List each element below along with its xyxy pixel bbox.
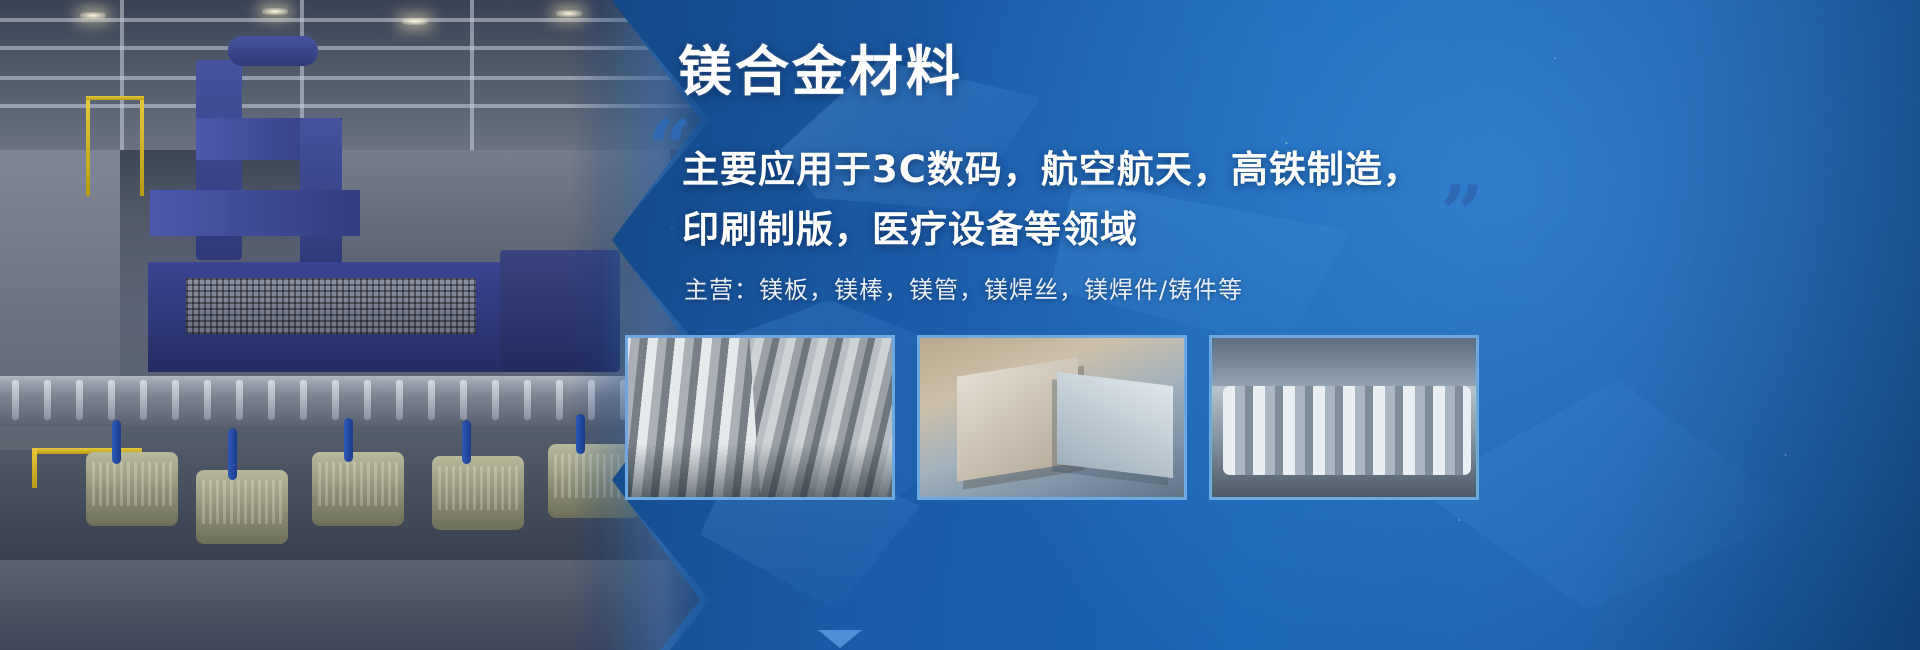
product-banner: 镁合金材料 “ ” 主要应用于3C数码，航空航天，高铁制造， 印刷制版，医疗设备…: [0, 0, 1920, 650]
product-thumbnail-rods[interactable]: [625, 335, 895, 500]
products-line: 主营：镁板，镁棒，镁管，镁焊丝，镁焊件/铸件等: [684, 275, 1243, 306]
factory-photo: [0, 0, 700, 650]
motor-unit: [432, 456, 524, 530]
banner-subtitle: 主要应用于3C数码，航空航天，高铁制造， 印刷制版，医疗设备等领域: [682, 140, 1502, 260]
product-thumbnail-gallery: [625, 335, 1479, 500]
product-thumbnail-plates[interactable]: [917, 335, 1187, 500]
page-title: 镁合金材料: [678, 45, 963, 99]
machine-mesh-panel: [186, 278, 476, 334]
product-thumbnail-coils[interactable]: [1209, 335, 1479, 500]
scroll-down-arrow-icon[interactable]: [818, 630, 862, 648]
motor-unit: [312, 452, 404, 526]
subtitle-line-2: 印刷制版，医疗设备等领域: [682, 200, 1502, 260]
motor-unit: [86, 452, 178, 526]
banner-content: 镁合金材料 “ ” 主要应用于3C数码，航空航天，高铁制造， 印刷制版，医疗设备…: [670, 0, 1920, 650]
motor-unit: [196, 470, 288, 544]
subtitle-line-1: 主要应用于3C数码，航空航天，高铁制造，: [682, 140, 1502, 200]
